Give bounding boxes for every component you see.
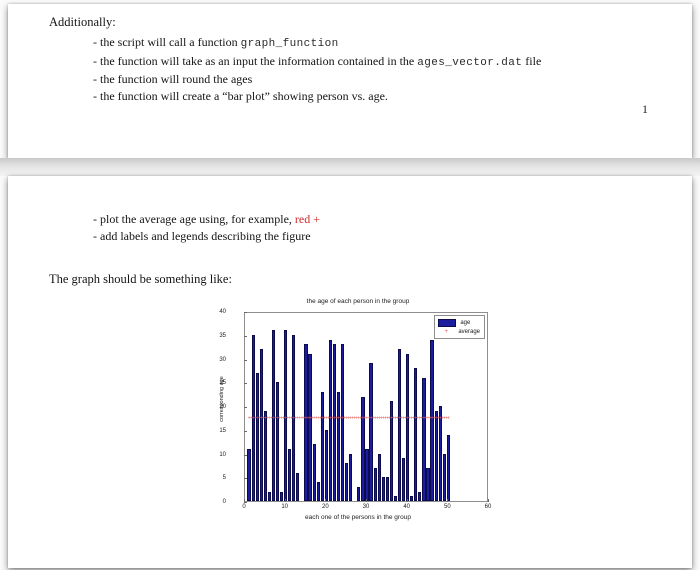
chart-x-tick-mark <box>285 499 286 502</box>
chart-legend: age + average <box>434 315 485 339</box>
chart-bar <box>374 468 377 501</box>
page1-lead-text: Additionally: <box>49 15 116 30</box>
chart-bar <box>345 463 348 501</box>
bullet-text-tail: file <box>522 54 541 68</box>
document-page-1: Additionally: - the script will call a f… <box>8 4 692 158</box>
legend-bar-swatch-icon <box>438 319 456 327</box>
chart-y-tick-label: 0 <box>186 499 226 505</box>
chart-y-tick-mark <box>244 336 247 337</box>
inline-code: graph_function <box>241 38 339 50</box>
bullet-text: - the script will call a function <box>93 35 241 49</box>
chart-x-tick-mark <box>407 499 408 502</box>
chart-x-tick-mark <box>366 499 367 502</box>
chart-y-tick-mark <box>244 455 247 456</box>
chart-y-tick-label: 10 <box>186 452 226 458</box>
chart-x-tick-label: 30 <box>351 504 381 510</box>
chart-y-tick-mark <box>244 502 247 503</box>
chart-bar <box>443 454 446 502</box>
bullet-text: - the function will create a “bar plot” … <box>93 89 388 103</box>
chart-bar <box>256 373 259 501</box>
chart-x-tick-label: 40 <box>392 504 422 510</box>
legend-item-age: age <box>438 318 480 327</box>
chart-bar <box>288 449 291 501</box>
chart-x-tick-label: 0 <box>229 504 259 510</box>
chart-y-tick-mark <box>244 360 247 361</box>
bullet-text: - plot the average age using, for exampl… <box>93 212 295 226</box>
legend-item-average: + average <box>438 327 480 336</box>
document-page-2: - plot the average age using, for exampl… <box>8 176 692 568</box>
chart-bar <box>333 344 336 501</box>
chart-x-tick-label: 10 <box>270 504 300 510</box>
chart-bar <box>313 444 316 501</box>
page-separator <box>0 158 700 176</box>
chart-bar <box>410 496 413 501</box>
chart-y-tick-label: 40 <box>186 309 226 315</box>
chart-x-axis-label: each one of the persons in the group <box>208 514 508 521</box>
chart-bar <box>382 477 385 501</box>
bullet-text: - add labels and legends describing the … <box>93 229 311 243</box>
chart-bar <box>280 492 283 502</box>
chart-x-tick-mark <box>447 499 448 502</box>
chart-bar <box>260 349 263 501</box>
chart-y-tick-label: 5 <box>186 475 226 481</box>
chart-x-tick-mark <box>244 499 245 502</box>
chart-y-tick-label: 35 <box>186 333 226 339</box>
page2-bullet-list: - plot the average age using, for exampl… <box>93 211 320 244</box>
chart-bar <box>378 454 381 502</box>
chart-bar <box>406 354 409 501</box>
bullet-text: - the function will round the ages <box>93 72 252 86</box>
chart-bar <box>357 487 360 501</box>
chart-bar <box>426 468 429 501</box>
chart-bar <box>365 449 368 501</box>
page1-bullet-list: - the script will call a function graph_… <box>93 34 541 104</box>
chart-y-tick-mark <box>244 383 247 384</box>
chart-bar <box>349 454 352 502</box>
chart-bar <box>304 344 307 501</box>
chart-bar <box>296 473 299 502</box>
chart-bar <box>317 482 320 501</box>
legend-plus-marker-icon: + <box>438 329 454 335</box>
chart-bar <box>337 392 340 501</box>
chart-plot-area: age + average ++++++++++++++++++++++++++… <box>244 312 488 502</box>
chart-bar <box>341 344 344 501</box>
inline-code: ages_vector.dat <box>417 57 522 69</box>
chart-bar <box>308 354 311 501</box>
chart-bar <box>276 382 279 501</box>
bullet-item: - the script will call a function graph_… <box>93 34 541 53</box>
chart-bar <box>361 397 364 502</box>
accent-text: red + <box>295 212 320 226</box>
bullet-text: - the function will take as an input the… <box>93 54 417 68</box>
chart-bar <box>386 477 389 501</box>
chart-y-tick-label: 15 <box>186 428 226 434</box>
chart-title: the age of each person in the group <box>208 298 508 305</box>
chart-bar <box>325 430 328 501</box>
bullet-item: - add labels and legends describing the … <box>93 228 320 245</box>
chart-bar <box>369 363 372 501</box>
chart-bar <box>268 492 271 502</box>
chart-y-tick-mark <box>244 431 247 432</box>
chart-x-tick-label: 20 <box>310 504 340 510</box>
chart-y-tick-mark <box>244 407 247 408</box>
chart-bar <box>264 411 267 501</box>
bullet-item: - the function will take as an input the… <box>93 53 541 72</box>
chart-bar <box>394 496 397 501</box>
chart-y-tick-mark <box>244 312 247 313</box>
chart-x-tick-label: 50 <box>432 504 462 510</box>
chart-bar <box>247 449 250 501</box>
chart-bar <box>398 349 401 501</box>
chart-bar <box>447 435 450 502</box>
legend-label-average: average <box>458 329 480 335</box>
page-number: 1 <box>642 102 648 117</box>
chart-bar <box>422 378 425 502</box>
bullet-item: - the function will round the ages <box>93 71 541 88</box>
chart-x-tick-mark <box>325 499 326 502</box>
average-marker-icon: + <box>447 417 450 422</box>
bullet-item: - plot the average age using, for exampl… <box>93 211 320 228</box>
legend-label-age: age <box>460 320 470 326</box>
chart-y-tick-mark <box>244 478 247 479</box>
chart-bar <box>435 411 438 501</box>
chart-bar <box>321 392 324 501</box>
chart-bar <box>418 492 421 502</box>
graph-intro-text: The graph should be something like: <box>49 272 232 287</box>
chart-y-tick-label: 20 <box>186 404 226 410</box>
chart-y-tick-label: 25 <box>186 380 226 386</box>
chart-y-tick-label: 30 <box>186 357 226 363</box>
chart-x-tick-mark <box>488 499 489 502</box>
chart-x-tick-label: 60 <box>473 504 503 510</box>
age-bar-chart: the age of each person in the group corr… <box>208 298 508 538</box>
chart-bar <box>402 458 405 501</box>
chart-bar <box>414 368 417 501</box>
bullet-item: - the function will create a “bar plot” … <box>93 88 541 105</box>
